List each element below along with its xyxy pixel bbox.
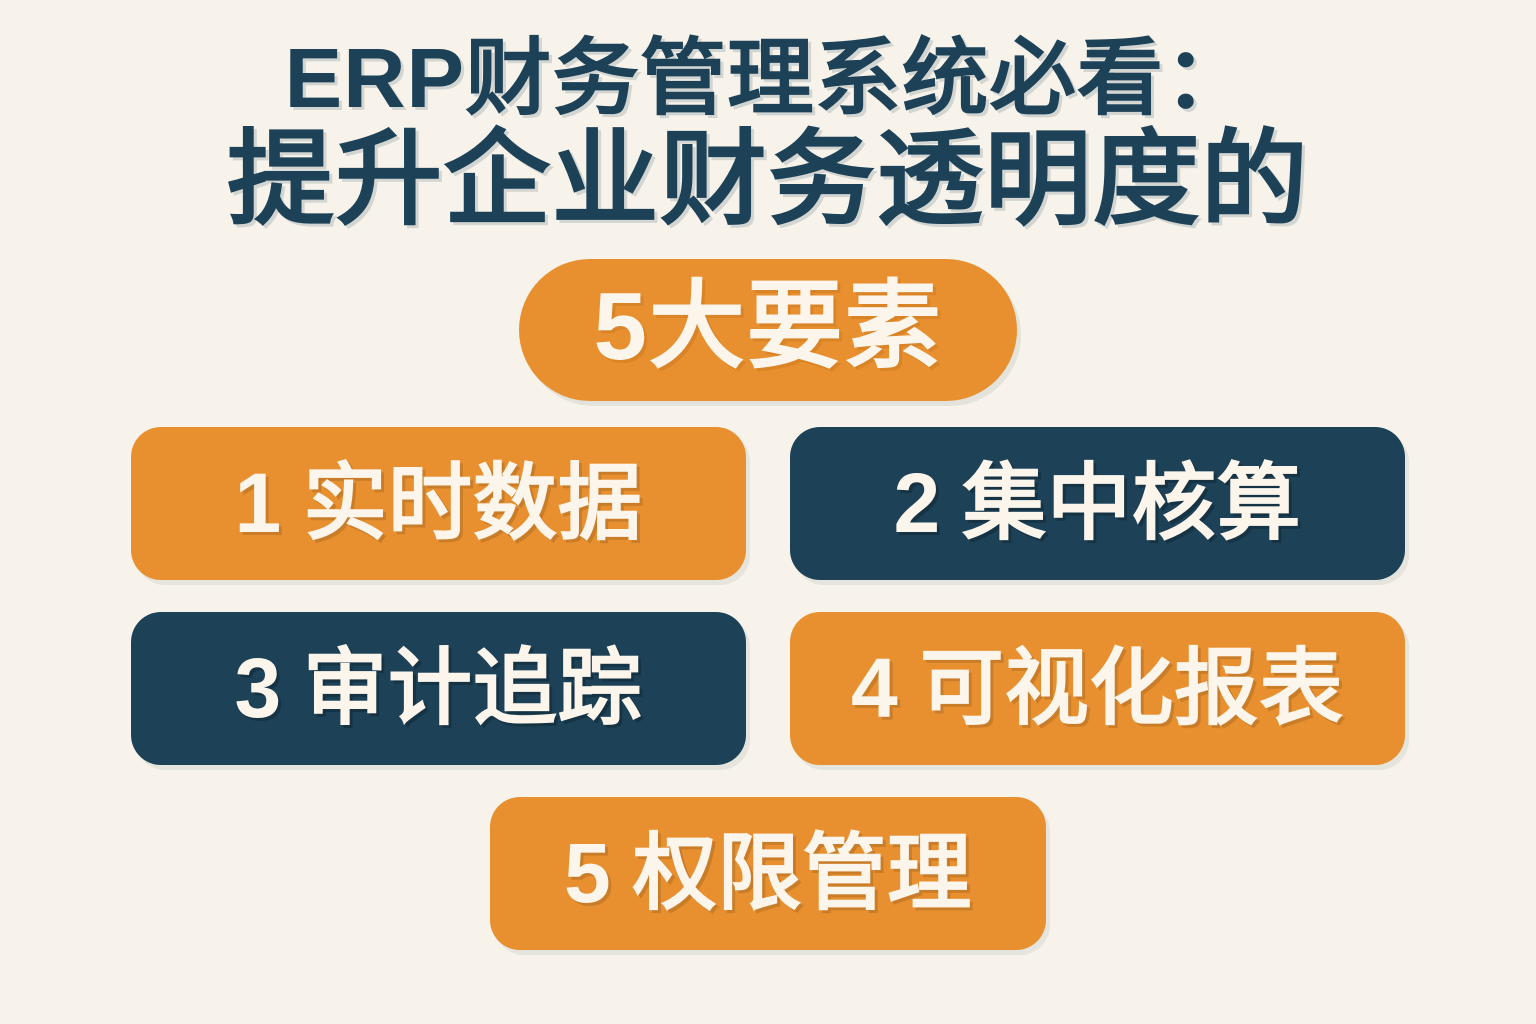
element-card-1-number: 1	[234, 461, 281, 545]
element-card-3-number: 3	[234, 646, 281, 730]
element-card-1-label: 实时数据	[303, 461, 642, 545]
element-card-3-label: 审计追踪	[303, 646, 642, 730]
elements-grid: 1 实时数据 2 集中核算 3 审计追踪 4 可视化报表 5	[131, 427, 1405, 950]
element-card-2-number: 2	[893, 461, 940, 545]
element-card-1[interactable]: 1 实时数据	[131, 427, 746, 580]
element-card-2-text: 2 集中核算	[893, 461, 1301, 545]
five-elements-badge: 5大要素	[519, 259, 1016, 401]
element-card-4-number: 4	[851, 646, 898, 730]
element-card-4-text: 4 可视化报表	[851, 646, 1344, 730]
badge-label: 5大要素	[593, 275, 942, 379]
element-card-5-text: 5 权限管理	[564, 831, 972, 915]
element-card-3[interactable]: 3 审计追踪	[131, 612, 746, 765]
badge-row: 5大要素	[0, 259, 1536, 401]
element-card-5[interactable]: 5 权限管理	[490, 797, 1046, 950]
element-card-2[interactable]: 2 集中核算	[790, 427, 1405, 580]
page-title: ERP财务管理系统必看： 提升企业财务透明度的	[0, 34, 1536, 235]
element-card-5-label: 权限管理	[633, 831, 972, 915]
title-line-1: ERP财务管理系统必看：	[0, 34, 1536, 123]
infographic-poster: ERP财务管理系统必看： 提升企业财务透明度的 5大要素 1 实时数据 2 集中…	[0, 0, 1536, 1024]
element-card-4-label: 可视化报表	[920, 646, 1344, 730]
title-line-2: 提升企业财务透明度的	[0, 125, 1536, 235]
element-card-4[interactable]: 4 可视化报表	[790, 612, 1405, 765]
element-card-5-number: 5	[564, 831, 611, 915]
element-card-2-label: 集中核算	[962, 461, 1301, 545]
element-card-3-text: 3 审计追踪	[234, 646, 642, 730]
element-card-1-text: 1 实时数据	[234, 461, 642, 545]
